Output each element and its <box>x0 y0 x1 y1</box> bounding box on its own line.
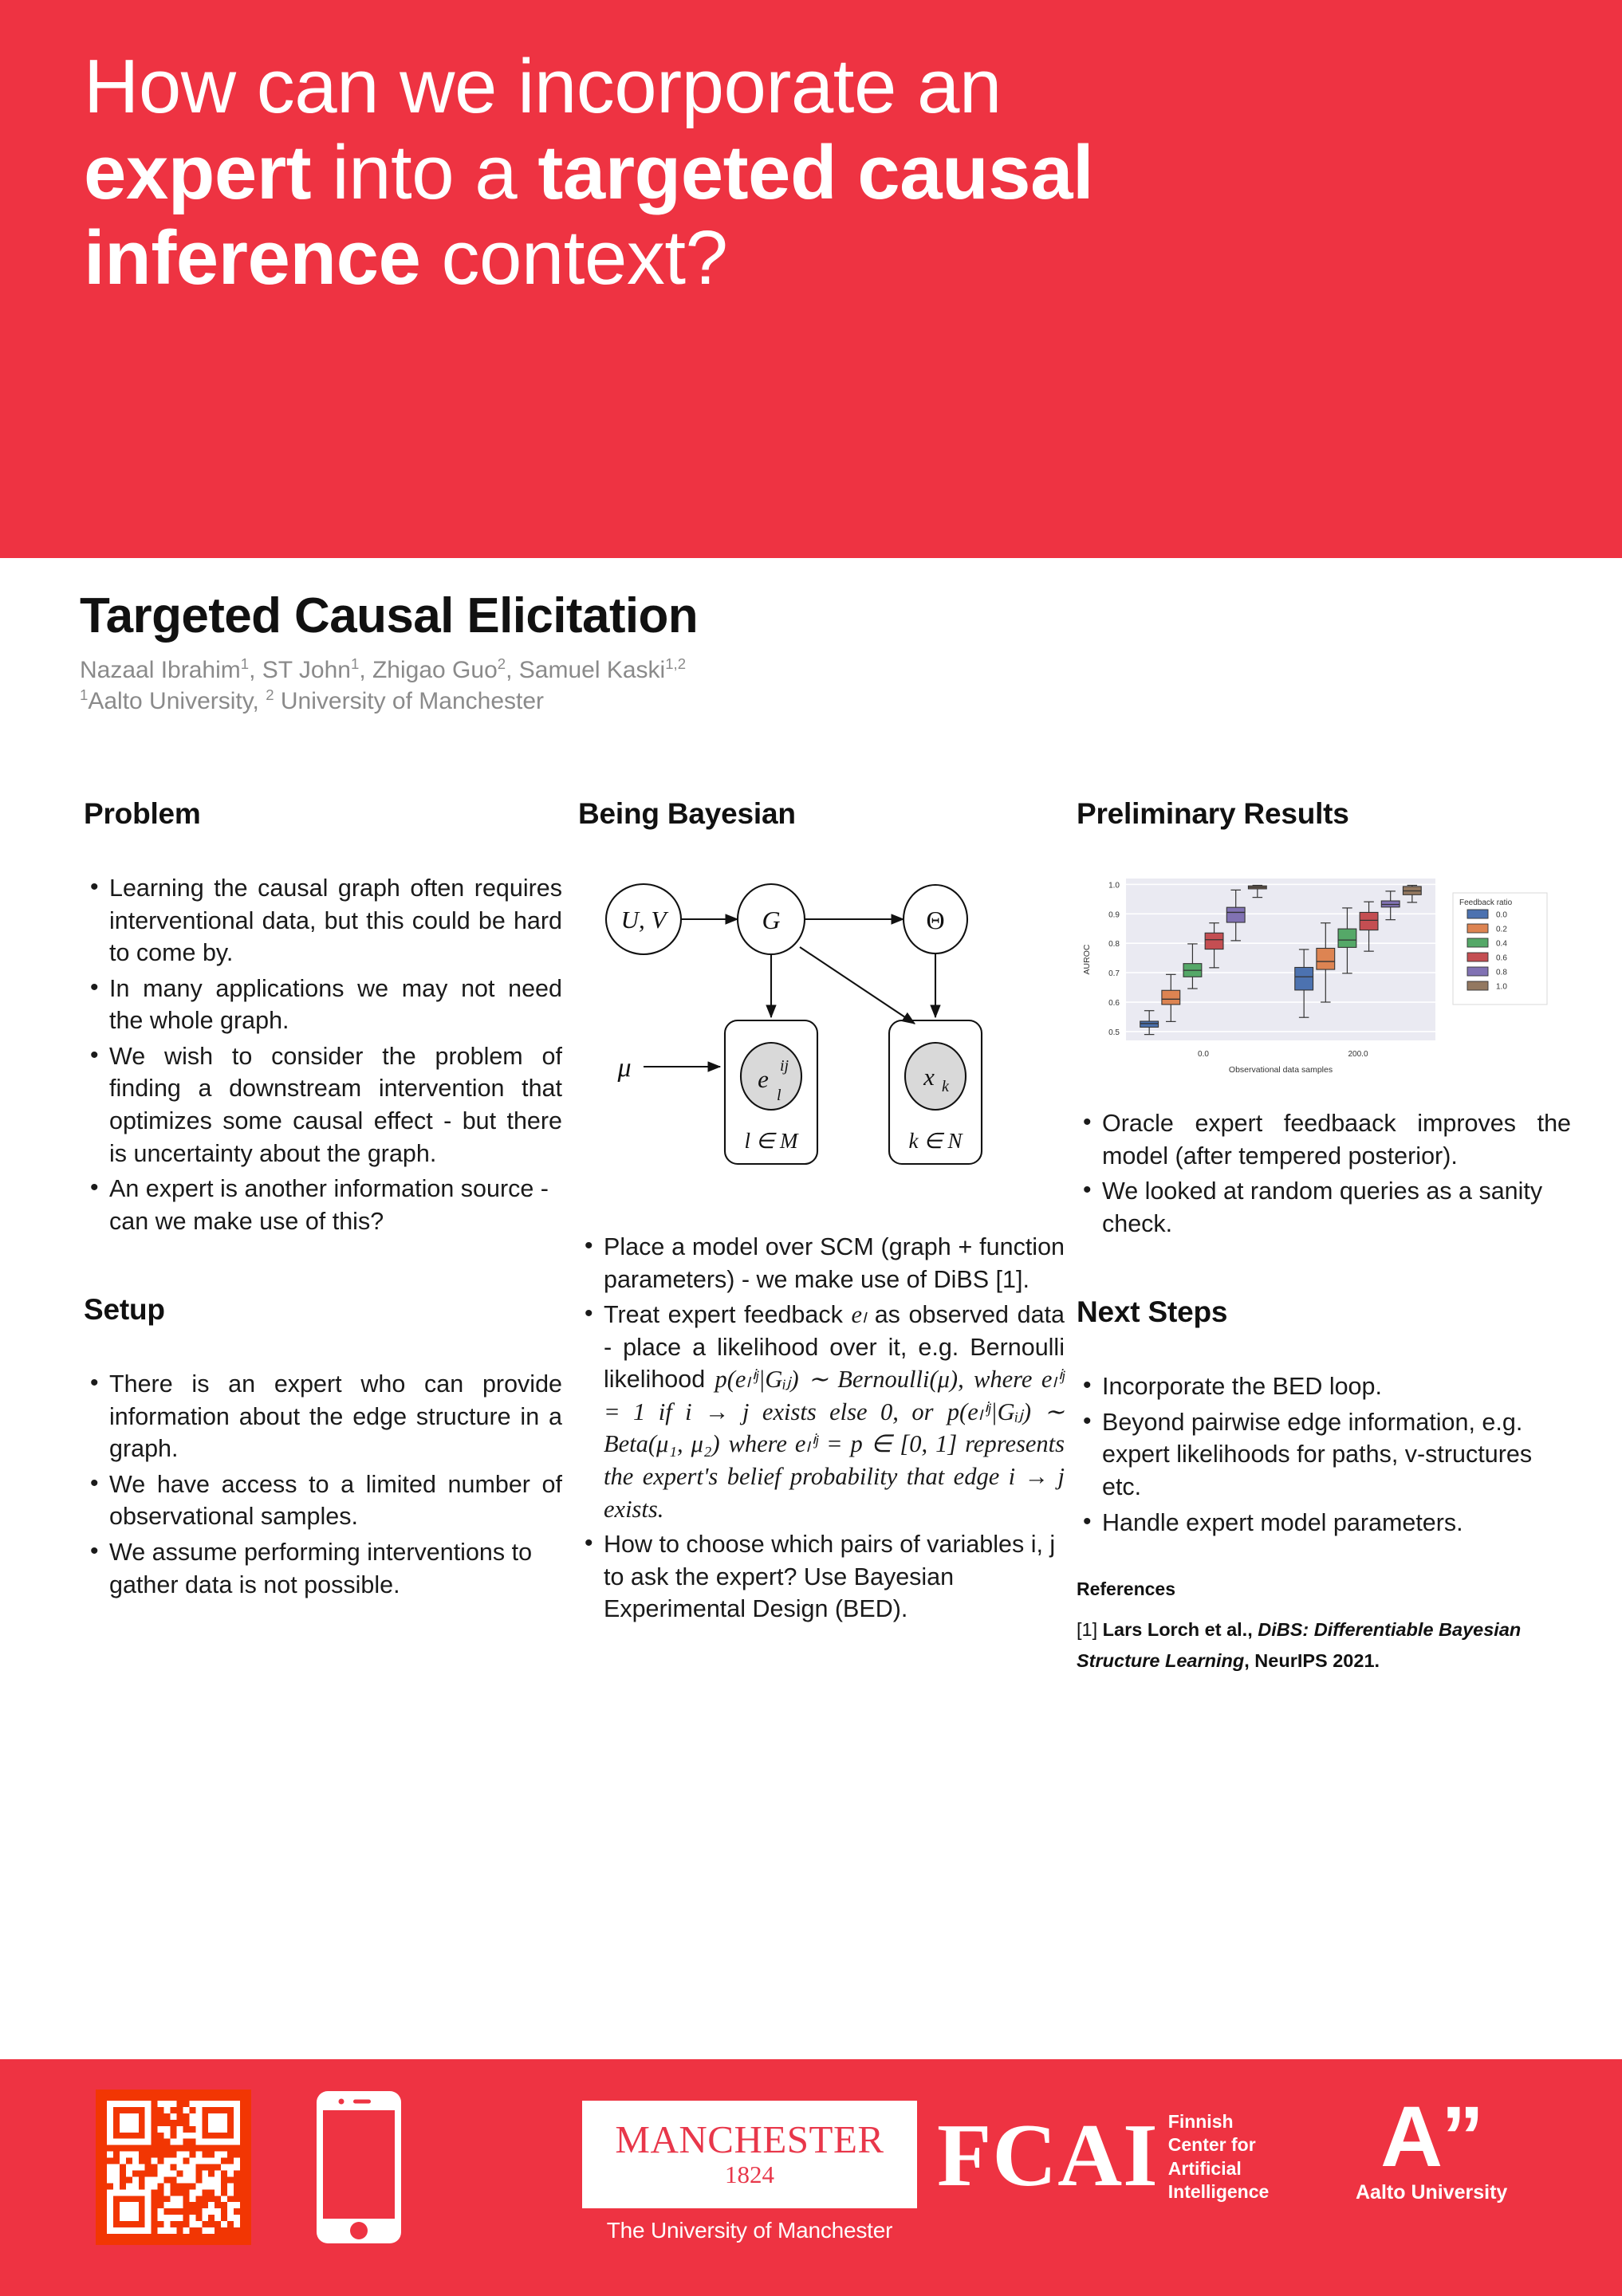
preliminary-results-bullet-list: Oracle expert feedbaack improves the mod… <box>1077 1107 1571 1240</box>
spacer <box>1077 1243 1571 1295</box>
author-sup: 1 <box>351 655 359 672</box>
chart-legend-label: 0.4 <box>1496 940 1507 949</box>
section-heading-preliminary-results: Preliminary Results <box>1077 797 1571 831</box>
list-item: Learning the causal graph often requires… <box>84 872 562 969</box>
affiliation-sup: 2 <box>266 686 274 703</box>
list-item: We looked at random queries as a sanity … <box>1077 1175 1571 1240</box>
chart-legend-swatch <box>1467 967 1488 976</box>
header-line-2-plain: into a <box>311 130 537 215</box>
being-bayesian-bullet-list: Place a model over SCM (graph + function… <box>578 1231 1065 1626</box>
fcai-tagline: Finnish Center for Artificial Intelligen… <box>1168 2107 1270 2204</box>
header-bold-expert: expert <box>84 130 311 215</box>
node-e-label: e <box>758 1065 769 1093</box>
chart-ytick-label: 0.6 <box>1108 999 1120 1008</box>
chart-legend-swatch <box>1467 910 1488 918</box>
list-item: We wish to consider the problem of findi… <box>84 1040 562 1170</box>
manchester-logo: MANCHESTER 1824 The University of Manche… <box>582 2101 917 2243</box>
chart-ytick-label: 0.5 <box>1108 1028 1120 1037</box>
footer-logos: MANCHESTER 1824 The University of Manche… <box>0 2059 1622 2296</box>
list-item: Oracle expert feedbaack improves the mod… <box>1077 1107 1571 1172</box>
reference-venue: , NeurIPS 2021. <box>1244 1650 1380 1671</box>
column-left: Problem Learning the causal graph often … <box>84 797 562 1604</box>
footer-band: MANCHESTER 1824 The University of Manche… <box>0 2059 1622 2296</box>
node-x-label: x <box>923 1063 935 1091</box>
manchester-subtitle: The University of Manchester <box>582 2218 917 2243</box>
fcai-tagline-line: Center for <box>1168 2133 1270 2156</box>
fcai-logo: FCAI Finnish Center for Artificial Intel… <box>937 2107 1269 2204</box>
node-uv-label: U, V <box>621 906 669 934</box>
chart-xtick-label: 200.0 <box>1348 1050 1368 1059</box>
mobile-phone-icon <box>315 2090 403 2245</box>
list-item: Beyond pairwise edge information, e.g. e… <box>1077 1406 1571 1504</box>
section-heading-setup: Setup <box>84 1293 562 1327</box>
section-heading-next-steps: Next Steps <box>1077 1295 1571 1329</box>
plate-m-label: l ∈ M <box>744 1129 799 1153</box>
setup-bullet-list: There is an expert who can provide infor… <box>84 1368 562 1601</box>
header-line-1: How can we incorporate an <box>84 44 1002 129</box>
chart-legend-label: 0.8 <box>1496 969 1507 977</box>
node-theta-label: Θ <box>926 906 944 934</box>
fcai-wordmark: FCAI <box>937 2117 1159 2196</box>
author-sup: 1 <box>241 655 249 672</box>
node-x-subscript: k <box>942 1078 950 1095</box>
header-bold-inference: inference <box>84 215 420 301</box>
list-item: How to choose which pairs of variables i… <box>578 1528 1065 1626</box>
reference-number: [1] <box>1077 1619 1097 1640</box>
qr-code[interactable] <box>96 2090 251 2245</box>
node-mu-label: μ <box>616 1053 631 1083</box>
list-item: In many applications we may not need the… <box>84 973 562 1037</box>
header-band: How can we incorporate an expert into a … <box>0 0 1622 558</box>
column-right: Preliminary Results 0.50.60.70.80.91.0AU… <box>1077 797 1571 1677</box>
chart-legend-swatch <box>1467 938 1488 947</box>
next-steps-bullet-list: Incorporate the BED loop. Beyond pairwis… <box>1077 1370 1571 1539</box>
math-bernoulli: p(eₗⁱʲ|Gᵢⱼ) ∼ Bernoulli(μ), <box>715 1366 964 1393</box>
node-e-superscript: ij <box>780 1057 789 1075</box>
chart-legend-label: 0.2 <box>1496 926 1507 934</box>
chart-ytick-label: 0.8 <box>1108 940 1120 949</box>
chart-legend-label: 1.0 <box>1496 983 1507 992</box>
author-sup: 1,2 <box>665 655 686 672</box>
header-question: How can we incorporate an expert into a … <box>84 44 1519 301</box>
aalto-wordmark: A” <box>1356 2097 1507 2175</box>
title-block: Targeted Causal Elicitation Nazaal Ibrah… <box>80 590 1555 717</box>
list-item: Incorporate the BED loop. <box>1077 1370 1571 1403</box>
column-middle: Being Bayesian <box>578 797 1065 1629</box>
manchester-wordmark: MANCHESTER <box>615 2120 884 2159</box>
list-item: We have access to a limited number of ob… <box>84 1468 562 1533</box>
list-item: We assume performing interventions to ga… <box>84 1536 562 1601</box>
chart-legend-title: Feedback ratio <box>1459 898 1513 907</box>
chart-ytick-label: 0.9 <box>1108 910 1120 919</box>
fcai-tagline-line: Intelligence <box>1168 2180 1270 2204</box>
reference-authors: Lars Lorch et al., <box>1103 1619 1253 1640</box>
node-x-observed <box>905 1043 966 1110</box>
chart-ytick-label: 1.0 <box>1108 881 1120 890</box>
affiliations-line: 1Aalto University, 2 University of Manch… <box>80 686 1555 717</box>
reference-item: [1] Lars Lorch et al., DiBS: Differentia… <box>1077 1614 1571 1677</box>
header-bold-targeted-causal: targeted causal <box>537 130 1093 215</box>
diagram-nodes: U, V G Θ μ e ij l x k <box>606 884 967 1110</box>
page-title: Targeted Causal Elicitation <box>80 590 1555 642</box>
author-name: Zhigao Guo <box>372 657 498 683</box>
chart-legend-swatch <box>1467 981 1488 990</box>
content-columns: Problem Learning the causal graph often … <box>0 797 1622 1977</box>
author-sup: 2 <box>498 655 506 672</box>
section-heading-being-bayesian: Being Bayesian <box>578 797 1065 831</box>
author-name: Nazaal Ibrahim <box>80 657 241 683</box>
node-g-label: G <box>762 906 780 934</box>
chart-legend-label: 0.0 <box>1496 911 1507 920</box>
section-heading-problem: Problem <box>84 797 562 831</box>
node-e-observed <box>741 1043 801 1110</box>
list-item: Handle expert model parameters. <box>1077 1507 1571 1539</box>
chart-xlabel: Observational data samples <box>1229 1065 1333 1075</box>
manchester-logo-box: MANCHESTER 1824 <box>582 2101 917 2208</box>
authors-block: Nazaal Ibrahim1, ST John1, Zhigao Guo2, … <box>80 655 1555 717</box>
list-item: An expert is another information source … <box>84 1173 562 1237</box>
chart-ylabel: AUROC <box>1082 944 1092 974</box>
poster-root: How can we incorporate an expert into a … <box>0 0 1622 2296</box>
fcai-tagline-line: Finnish <box>1168 2110 1270 2133</box>
references-heading: References <box>1077 1578 1571 1600</box>
affiliation-sup: 1 <box>80 686 88 703</box>
list-item: There is an expert who can provide infor… <box>84 1368 562 1465</box>
spacer <box>1077 1542 1571 1578</box>
chart-ytick-label: 0.7 <box>1108 969 1120 978</box>
auroc-boxplot-chart: 0.50.60.70.80.91.0AUROC0.0200.0Observati… <box>1077 867 1575 1079</box>
author-name: Samuel Kaski <box>519 657 665 683</box>
node-e-subscript: l <box>777 1087 781 1104</box>
manchester-year: 1824 <box>725 2160 774 2189</box>
chart-xtick-label: 0.0 <box>1198 1050 1209 1059</box>
affiliation-name: Aalto University <box>88 688 252 714</box>
authors-line: Nazaal Ibrahim1, ST John1, Zhigao Guo2, … <box>80 655 1555 686</box>
list-item: Place a model over SCM (graph + function… <box>578 1231 1065 1295</box>
bullet-text-pre: Treat expert feedback <box>604 1301 843 1328</box>
aalto-logo: A” Aalto University <box>1356 2097 1507 2204</box>
chart-legend-swatch <box>1467 924 1488 933</box>
aalto-subtitle: Aalto University <box>1356 2181 1507 2204</box>
problem-bullet-list: Learning the causal graph often requires… <box>84 872 562 1237</box>
header-line-3-plain: context? <box>420 215 727 301</box>
affiliation-name: University of Manchester <box>281 688 544 714</box>
chart-legend-label: 0.6 <box>1496 954 1507 963</box>
plate-n-label: k ∈ N <box>908 1129 963 1153</box>
bayesian-network-diagram: U, V G Θ μ e ij l x k <box>578 867 1065 1202</box>
chart-legend-swatch <box>1467 953 1488 961</box>
list-item-math: Treat expert feedback eₗ as observed dat… <box>578 1299 1065 1525</box>
spacer <box>84 1240 562 1293</box>
fcai-tagline-line: Artificial <box>1168 2157 1270 2180</box>
math-e-sub-l: eₗ <box>851 1301 866 1328</box>
author-name: ST John <box>262 657 351 683</box>
